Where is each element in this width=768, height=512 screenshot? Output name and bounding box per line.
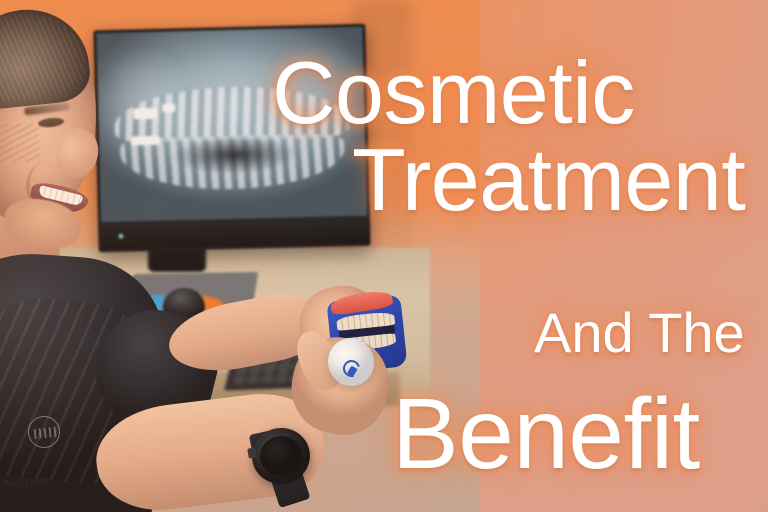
headline-line-2: Treatment: [352, 136, 745, 224]
watermark-line-1: AL CLINIC: [3, 476, 51, 488]
eye-wrinkles: [0, 124, 40, 162]
headline-line-1: Cosmetic: [272, 49, 635, 137]
watermark: AL CLINIC DENTISTRY: [3, 476, 51, 496]
headline-line-4: Benefit: [392, 384, 700, 484]
watermark-line-2: DENTISTRY: [3, 488, 51, 496]
smartwatch-crown-button[interactable]: [247, 447, 257, 458]
cosmetic-treatment-banner: Cosmetic Treatment And The Benefit AL CL…: [0, 0, 768, 512]
headline-line-3: And The: [534, 305, 745, 361]
